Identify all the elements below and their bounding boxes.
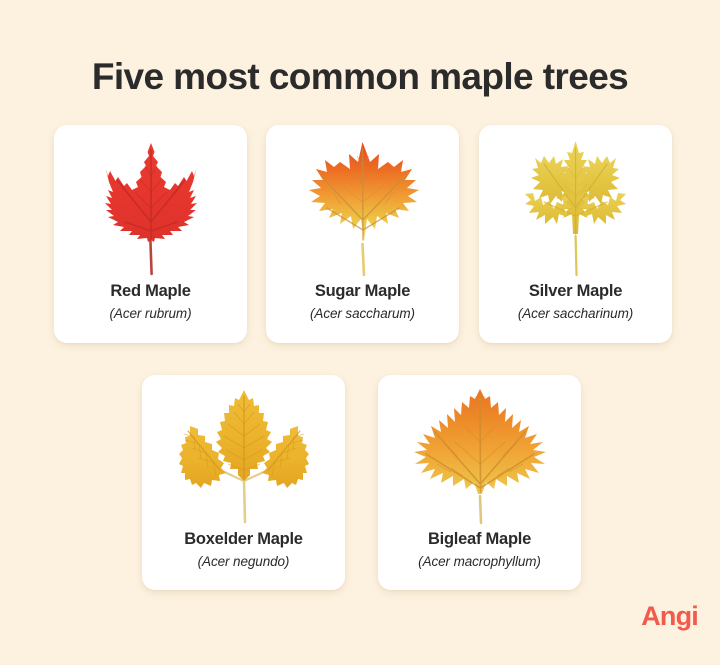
maple-card-silver-maple[interactable]: Silver Maple (Acer saccharinum) xyxy=(479,125,672,343)
maple-common-name: Sugar Maple xyxy=(272,281,453,301)
maple-scientific-name: (Acer macrophyllum) xyxy=(384,553,575,571)
card-labels: Bigleaf Maple (Acer macrophyllum) xyxy=(378,529,581,571)
maple-scientific-name: (Acer negundo) xyxy=(148,553,339,571)
leaf-illustration-wrap xyxy=(266,125,459,281)
card-labels: Sugar Maple (Acer saccharum) xyxy=(266,281,459,323)
angi-logo[interactable]: Angi xyxy=(641,602,698,630)
red-maple-leaf-icon xyxy=(85,136,217,278)
maple-card-boxelder-maple[interactable]: Boxelder Maple (Acer negundo) xyxy=(142,375,345,590)
boxelder-maple-leaf-icon xyxy=(168,384,320,526)
silver-maple-leaf-icon xyxy=(509,136,643,278)
card-labels: Boxelder Maple (Acer negundo) xyxy=(142,529,345,571)
infographic-root: Five most common maple trees xyxy=(0,0,720,665)
maple-card-sugar-maple[interactable]: Sugar Maple (Acer saccharum) xyxy=(266,125,459,343)
card-labels: Silver Maple (Acer saccharinum) xyxy=(479,281,672,323)
maple-scientific-name: (Acer saccharum) xyxy=(272,305,453,323)
maple-scientific-name: (Acer rubrum) xyxy=(60,305,241,323)
bigleaf-maple-leaf-icon xyxy=(397,384,563,526)
leaf-illustration-wrap xyxy=(142,375,345,529)
maple-common-name: Boxelder Maple xyxy=(148,529,339,549)
maple-card-bigleaf-maple[interactable]: Bigleaf Maple (Acer macrophyllum) xyxy=(378,375,581,590)
maple-common-name: Bigleaf Maple xyxy=(384,529,575,549)
maple-common-name: Red Maple xyxy=(60,281,241,301)
leaf-illustration-wrap xyxy=(479,125,672,281)
sugar-maple-leaf-icon xyxy=(295,136,431,278)
leaf-illustration-wrap xyxy=(378,375,581,529)
maple-scientific-name: (Acer saccharinum) xyxy=(485,305,666,323)
maple-common-name: Silver Maple xyxy=(485,281,666,301)
page-title: Five most common maple trees xyxy=(0,55,720,99)
leaf-illustration-wrap xyxy=(54,125,247,281)
card-labels: Red Maple (Acer rubrum) xyxy=(54,281,247,323)
maple-card-red-maple[interactable]: Red Maple (Acer rubrum) xyxy=(54,125,247,343)
